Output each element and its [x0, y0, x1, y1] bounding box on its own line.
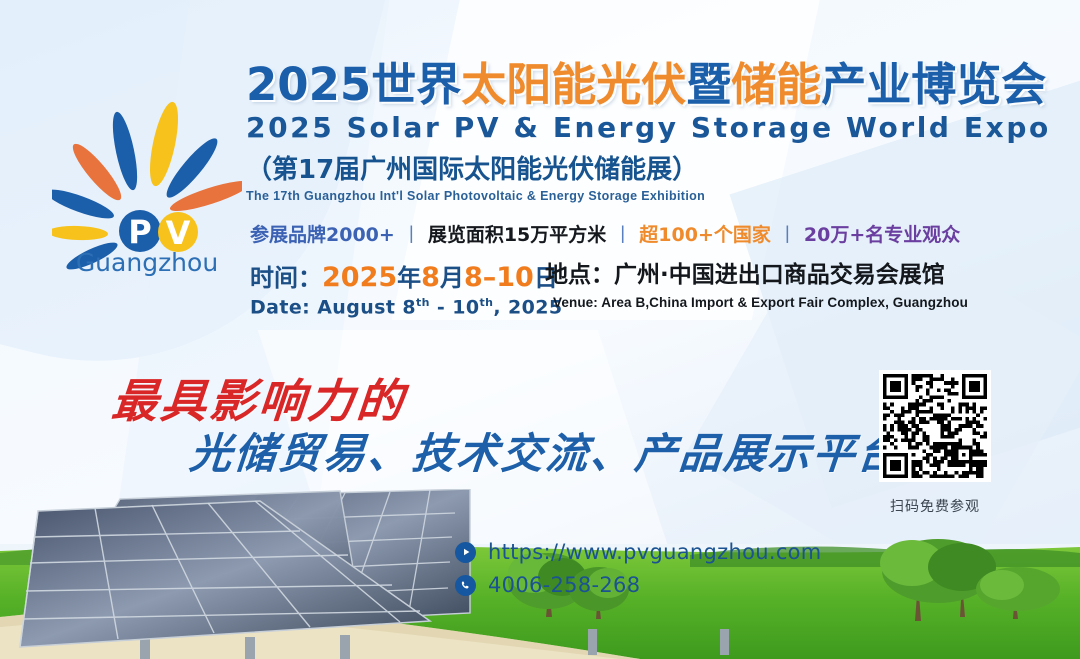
title-part-2: 太阳能光伏	[461, 58, 686, 111]
qr-code-canvas	[883, 374, 987, 478]
slogan-line-2: 光储贸易、技术交流、产品展示平台！	[187, 420, 949, 481]
phone-icon	[455, 575, 476, 596]
venue-chinese: 地点：广州·中国进出口商品交易会展馆	[545, 262, 968, 290]
venue-value-cn: 广州·中国进出口商品交易会展馆	[614, 262, 945, 288]
pv-guangzhou-logo: P V Guangzhou	[52, 96, 242, 276]
logo-letter-v: V	[166, 214, 191, 252]
stat-separator-3: 丨	[771, 224, 804, 246]
subtitle-english: The 17th Guangzhou Int'l Solar Photovolt…	[246, 189, 1036, 203]
title-part-1: 2025世界	[246, 58, 461, 111]
title-part-5: 产业博览会	[821, 58, 1046, 111]
contact-block: https://www.pvguangzhou.com 4006-258-268	[455, 540, 822, 606]
title-part-4: 储能	[731, 58, 821, 111]
venue-english: Venue: Area B,China Import & Export Fair…	[553, 295, 968, 310]
date-en-sup1: th	[416, 296, 430, 309]
website-row[interactable]: https://www.pvguangzhou.com	[455, 540, 822, 564]
date-en-sup2: th	[479, 296, 493, 309]
date-en-day2: 10	[452, 296, 479, 318]
stats-row: 参展品牌2000+丨展览面积15万平方米丨超100+个国家丨20万+名专业观众	[250, 220, 960, 247]
date-year: 2025	[322, 262, 397, 293]
venue-block: 地点：广州·中国进出口商品交易会展馆 Venue: Area B,China I…	[545, 262, 968, 310]
date-day-start: 8	[464, 262, 483, 293]
stat-countries: 超100+个国家	[639, 224, 771, 246]
stat-area: 展览面积15万平方米	[428, 224, 606, 246]
title-part-3: 暨	[686, 58, 731, 111]
headline-block: 2025世界太阳能光伏暨储能产业博览会 2025 Solar PV & Ener…	[246, 62, 1036, 203]
logo-wordmark: Guangzhou	[76, 248, 218, 276]
play-icon	[455, 542, 476, 563]
venue-label-cn: 地点：	[545, 262, 614, 288]
logo-letter-p: P	[128, 213, 151, 251]
website-text: https://www.pvguangzhou.com	[488, 540, 822, 564]
title-chinese: 2025世界太阳能光伏暨储能产业博览会	[246, 62, 1036, 109]
stat-brands: 参展品牌2000+	[250, 224, 395, 246]
date-dash: –	[483, 262, 497, 293]
stat-visitors: 20万+名专业观众	[804, 224, 960, 246]
date-label-cn: 时间：	[250, 264, 322, 292]
date-month: 8	[421, 262, 440, 293]
date-month-unit: 月	[440, 264, 464, 292]
stat-separator-1: 丨	[395, 224, 428, 246]
phone-row[interactable]: 4006-258-268	[455, 573, 822, 597]
expo-poster: P V Guangzhou 2025世界太阳能光伏暨储能产业博览会 2025 S…	[0, 0, 1080, 659]
date-chinese: 时间：2025年8月8–10日	[250, 262, 562, 294]
date-en-month: August	[317, 296, 395, 318]
date-year-unit: 年	[397, 264, 421, 292]
logo-sunburst-icon: P V Guangzhou	[52, 96, 242, 276]
stat-separator-2: 丨	[606, 224, 639, 246]
qr-code[interactable]	[879, 370, 991, 482]
date-day-end: 10	[496, 262, 534, 293]
date-en-dash: -	[437, 296, 445, 318]
phone-text: 4006-258-268	[488, 573, 640, 597]
title-english: 2025 Solar PV & Energy Storage World Exp…	[246, 111, 1036, 144]
subtitle-chinese: （第17届广州国际太阳能光伏储能展）	[246, 149, 1036, 186]
date-english: Date: August 8th - 10th, 2025	[250, 296, 562, 318]
date-en-day1: 8	[402, 296, 416, 318]
date-label-en: Date:	[250, 296, 310, 318]
date-block: 时间：2025年8月8–10日 Date: August 8th - 10th,…	[250, 262, 562, 318]
